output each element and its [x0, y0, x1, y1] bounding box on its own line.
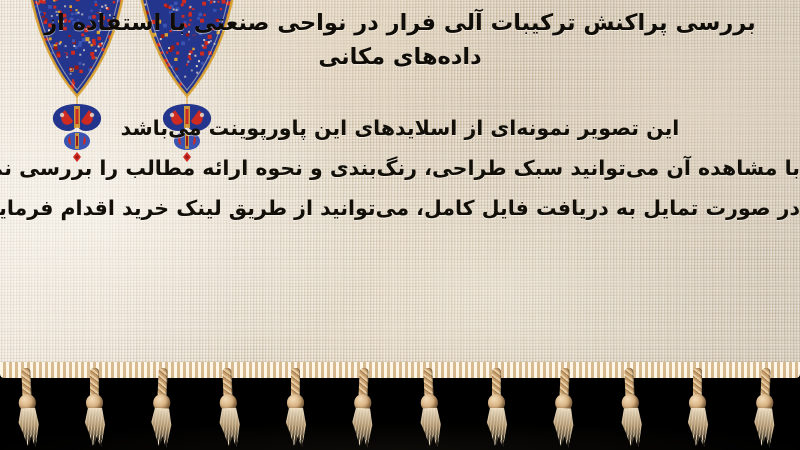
tassel-strands-icon	[551, 408, 575, 449]
fringe-tassel	[146, 367, 175, 448]
tassel-strands-icon	[84, 408, 106, 448]
slide-title-line-1: بررسی پراکنش ترکیبات آلی فرار در نواحی ص…	[44, 10, 756, 36]
fringe-tassel	[615, 367, 644, 448]
fringe-tassel	[81, 368, 107, 448]
fringe-tassel	[749, 367, 778, 448]
tassel-strands-icon	[17, 407, 41, 448]
slide-title-line-2: داده‌های مکانی	[318, 44, 481, 70]
fringe-tassel	[213, 367, 242, 448]
tassel-strands-icon	[752, 408, 776, 449]
tassel-strands-icon	[149, 408, 173, 449]
fringe-tassel	[347, 367, 376, 448]
fringe-tassel	[684, 368, 710, 448]
tassel-strands-icon	[285, 408, 307, 448]
presentation-slide: بررسی پراکنش ترکیبات آلی فرار در نواحی ص…	[0, 0, 800, 450]
fringe-tassel	[414, 367, 443, 448]
tassel-strands-icon	[350, 408, 374, 449]
tassel-strands-icon	[486, 408, 508, 448]
slide-title: بررسی پراکنش ترکیبات آلی فرار در نواحی ص…	[28, 6, 772, 74]
slide-text-layer: بررسی پراکنش ترکیبات آلی فرار در نواحی ص…	[0, 0, 800, 378]
tassel-strands-icon	[218, 407, 242, 448]
slide-body-text: این تصویر نمونه‌ای از اسلایدهای این پاور…	[0, 108, 800, 228]
carpet-fringe-tassels	[0, 368, 800, 450]
body-line-3: در صورت تمایل به دریافت فایل کامل، می‌تو…	[0, 188, 800, 228]
fringe-tassel	[483, 368, 509, 448]
fringe-tassel	[282, 368, 308, 448]
tassel-strands-icon	[687, 408, 709, 448]
fringe-tassel	[548, 367, 577, 448]
tassel-strands-icon	[620, 407, 644, 448]
tassel-strands-icon	[419, 407, 443, 448]
body-line-1: این تصویر نمونه‌ای از اسلایدهای این پاور…	[0, 108, 800, 148]
body-line-2: با مشاهده آن می‌توانید سبک طراحی، رنگ‌بن…	[0, 148, 800, 188]
fringe-tassel	[12, 367, 41, 448]
